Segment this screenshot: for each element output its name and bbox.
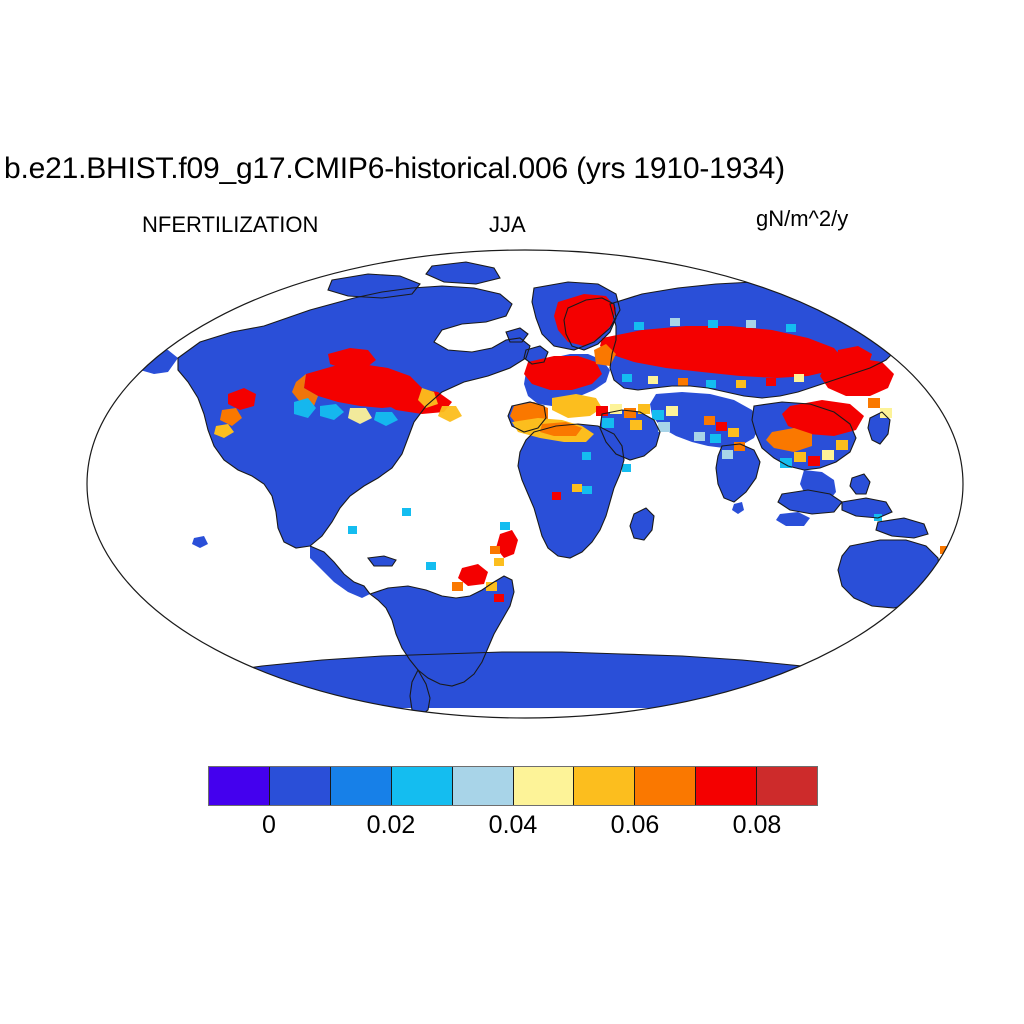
- colorbar-band-amber: [574, 767, 635, 805]
- colorbar-band-pale-yellow: [514, 767, 575, 805]
- units-label: gN/m^2/y: [756, 206, 848, 232]
- colorbar-band-red: [696, 767, 757, 805]
- colorbar-band-medium-blue: [331, 767, 392, 805]
- map-svg: [82, 246, 968, 722]
- colorbar-tick-labels: 00.020.040.060.08: [208, 810, 818, 844]
- colorbar-band-violet-blue: [209, 767, 270, 805]
- season-label: JJA: [489, 212, 526, 238]
- world-map: [82, 246, 968, 722]
- colorbar-tick-0: 0: [262, 810, 276, 840]
- colorbar[interactable]: [208, 766, 818, 806]
- figure-canvas: b.e21.BHIST.f09_g17.CMIP6-historical.006…: [0, 0, 1024, 1024]
- subtitle-row: NFERTILIZATION JJA gN/m^2/y: [0, 212, 1024, 240]
- colorbar-band-orange: [635, 767, 696, 805]
- colorbar-band-royal-blue: [270, 767, 331, 805]
- colorbar-band-cyan-blue: [392, 767, 453, 805]
- colorbar-tick-2: 0.04: [489, 810, 538, 840]
- colorbar-band-pale-blue: [453, 767, 514, 805]
- page-title: b.e21.BHIST.f09_g17.CMIP6-historical.006…: [4, 152, 1020, 186]
- colorbar-tick-4: 0.08: [733, 810, 782, 840]
- colorbar-band-brick-red: [757, 767, 817, 805]
- colorbar-tick-1: 0.02: [367, 810, 416, 840]
- variable-label: NFERTILIZATION: [142, 212, 318, 238]
- colorbar-tick-3: 0.06: [611, 810, 660, 840]
